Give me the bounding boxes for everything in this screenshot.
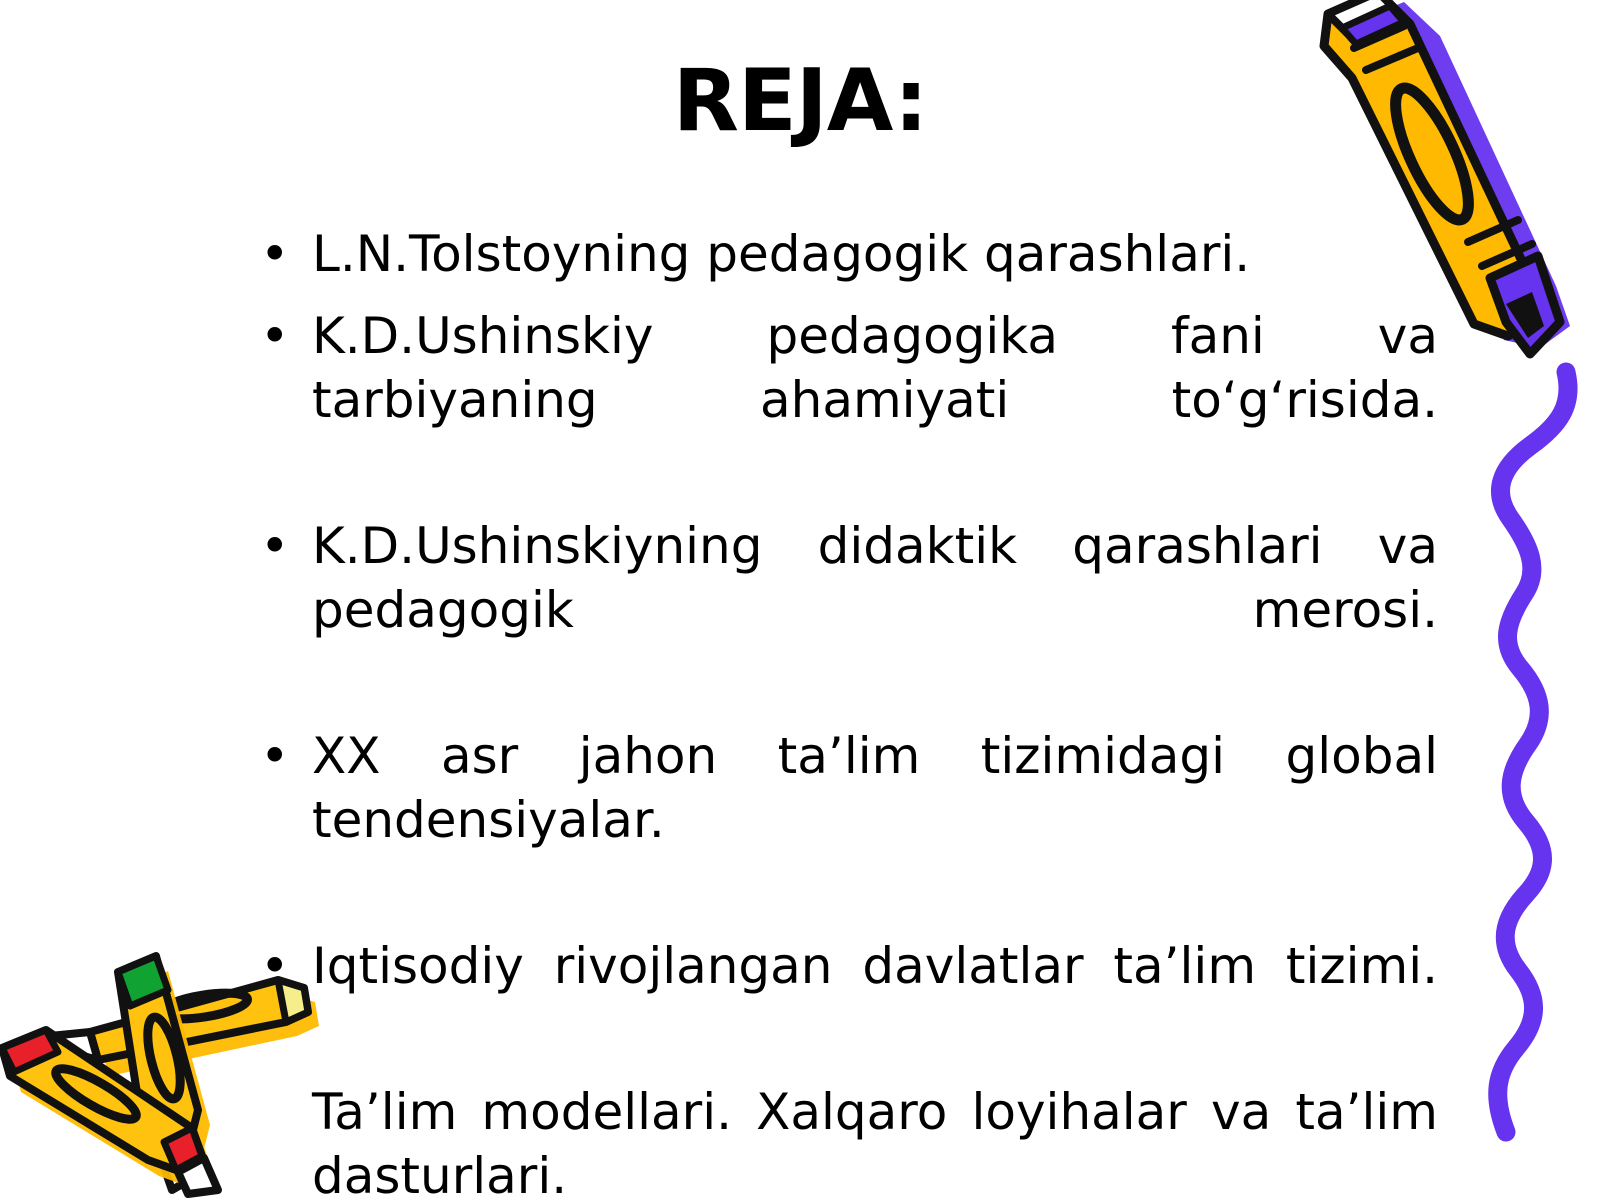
list-item-label: Iqtisodiy rivojlangan davlatlar ta’lim t… bbox=[312, 934, 1438, 1062]
bullet-marker-icon: • bbox=[252, 304, 312, 368]
bullet-list: • L.N.Tolstoyning pedagogik qarashlari. … bbox=[252, 222, 1438, 1200]
bullet-marker-icon: • bbox=[252, 222, 312, 286]
list-item: • K.D.Ushinskiy pedagogika fani va tarbi… bbox=[252, 304, 1438, 496]
list-item-label: XX asr jahon ta’lim tizimidagi global te… bbox=[312, 724, 1438, 916]
page-title: REJA: bbox=[0, 58, 1600, 144]
list-item: • L.N.Tolstoyning pedagogik qarashlari. bbox=[252, 222, 1438, 286]
slide-canvas: REJA: bbox=[0, 0, 1600, 1200]
list-item-label: L.N.Tolstoyning pedagogik qarashlari. bbox=[312, 222, 1438, 286]
list-item: • Ta’lim modellari. Xalqaro loyihalar va… bbox=[252, 1080, 1438, 1200]
bullet-marker-icon: • bbox=[252, 934, 312, 998]
purple-squiggle-icon bbox=[1448, 372, 1600, 1132]
list-item: • XX asr jahon ta’lim tizimidagi global … bbox=[252, 724, 1438, 916]
list-item: • K.D.Ushinskiyning didaktik qarashlari … bbox=[252, 514, 1438, 706]
list-item-label: K.D.Ushinskiyning didaktik qarashlari va… bbox=[312, 514, 1438, 706]
list-item-label: K.D.Ushinskiy pedagogika fani va tarbiya… bbox=[312, 304, 1438, 496]
bullet-marker-icon: • bbox=[252, 724, 312, 788]
list-item: • Iqtisodiy rivojlangan davlatlar ta’lim… bbox=[252, 934, 1438, 1062]
list-item-label: Ta’lim modellari. Xalqaro loyihalar va t… bbox=[312, 1080, 1438, 1200]
bullet-marker-icon: • bbox=[252, 514, 312, 578]
